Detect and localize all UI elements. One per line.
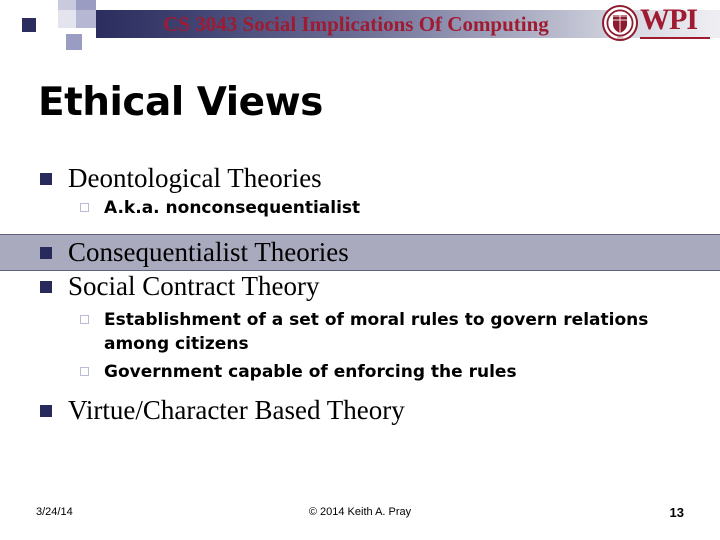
course-title: CS 3043 Social Implications Of Computing [96,10,616,38]
page-title: Ethical Views [38,80,323,126]
list-item-label: Government capable of enforcing the rule… [104,362,517,382]
list-item-label: Deontological Theories [68,163,322,193]
slide-footer: 3/24/14 © 2014 Keith A. Pray 13 [0,500,720,540]
wpi-logo: 1865 WPI [602,4,712,44]
decoration-square [58,10,76,28]
highlighted-list-item-row: Consequentialist Theories [0,236,720,269]
decoration-square [58,0,76,10]
square-bullet-icon [40,405,52,417]
svg-text:1865: 1865 [617,35,624,39]
square-bullet-icon [40,281,52,293]
list-item: Consequentialist Theories [0,236,720,269]
decoration-square [22,18,36,32]
list-item-label: Consequentialist Theories [68,237,349,267]
list-item-label: Social Contract Theory [68,271,319,301]
hollow-square-bullet-icon [80,203,89,212]
decoration-square [66,34,82,50]
decoration-square [40,0,58,18]
list-item: Deontological Theories [0,160,720,196]
spacer [0,384,720,392]
decoration-square [76,0,96,10]
list-item-label: Virtue/Character Based Theory [68,395,405,425]
square-bullet-icon [40,247,52,259]
slide-body: Deontological Theories A.k.a. nonconsequ… [0,160,720,428]
list-item-label: Establishment of a set of moral rules to… [104,310,648,354]
page-number: 13 [670,505,684,520]
spacer [0,220,720,228]
footer-copyright: © 2014 Keith A. Pray [0,506,720,518]
list-item-label: A.k.a. nonconsequentialist [104,198,360,218]
square-bullet-icon [40,173,52,185]
wpi-wordmark: WPI [640,4,697,36]
list-item: Social Contract Theory [0,268,720,304]
hollow-square-bullet-icon [80,367,89,376]
list-item: A.k.a. nonconsequentialist [0,196,720,220]
hollow-square-bullet-icon [80,315,89,324]
list-item: Establishment of a set of moral rules to… [0,308,720,356]
decoration-square [40,18,58,32]
wpi-underline [640,37,710,39]
slide-header: CS 3043 Social Implications Of Computing… [0,0,720,48]
decoration-square [76,10,96,28]
list-item: Virtue/Character Based Theory [0,392,720,428]
list-item: Government capable of enforcing the rule… [0,360,720,384]
wpi-seal-icon: 1865 [602,5,638,41]
